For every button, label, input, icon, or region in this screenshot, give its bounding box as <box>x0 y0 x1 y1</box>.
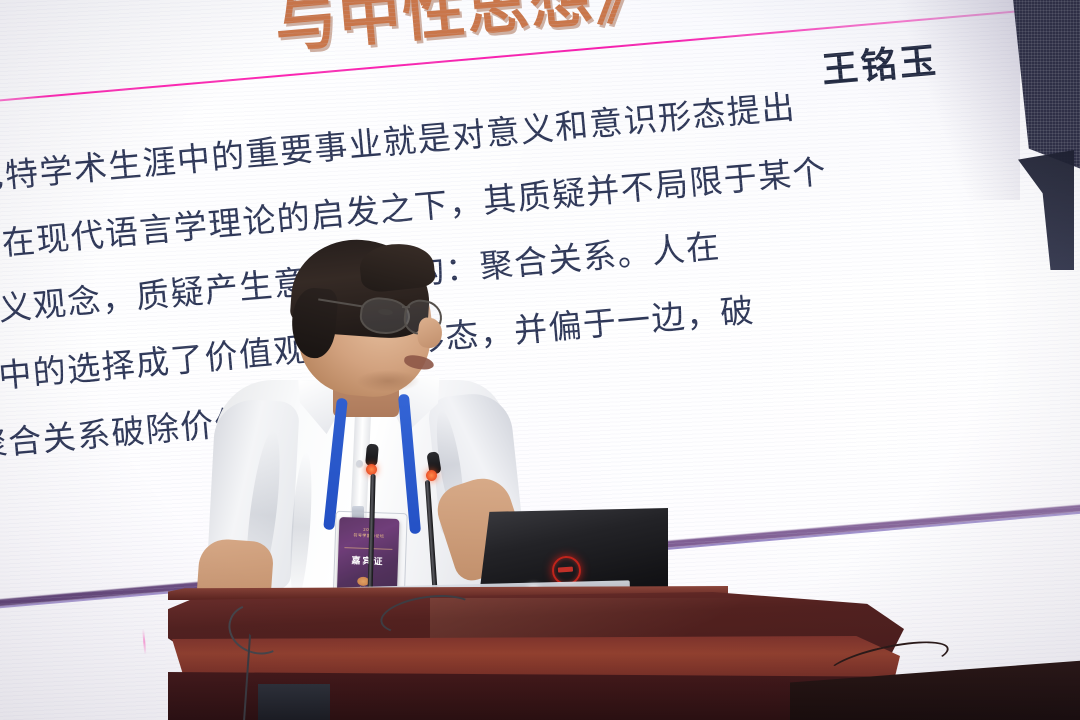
chin-shadow <box>356 370 420 392</box>
glasses-bridge <box>402 306 410 308</box>
podium-leg <box>258 684 330 720</box>
presentation-photo: 与中性思想》 王铭玉 兰·巴特学术生涯中的重要事业就是对意义和意识形态提出 在现… <box>0 0 1080 720</box>
shirt-button <box>356 460 363 467</box>
